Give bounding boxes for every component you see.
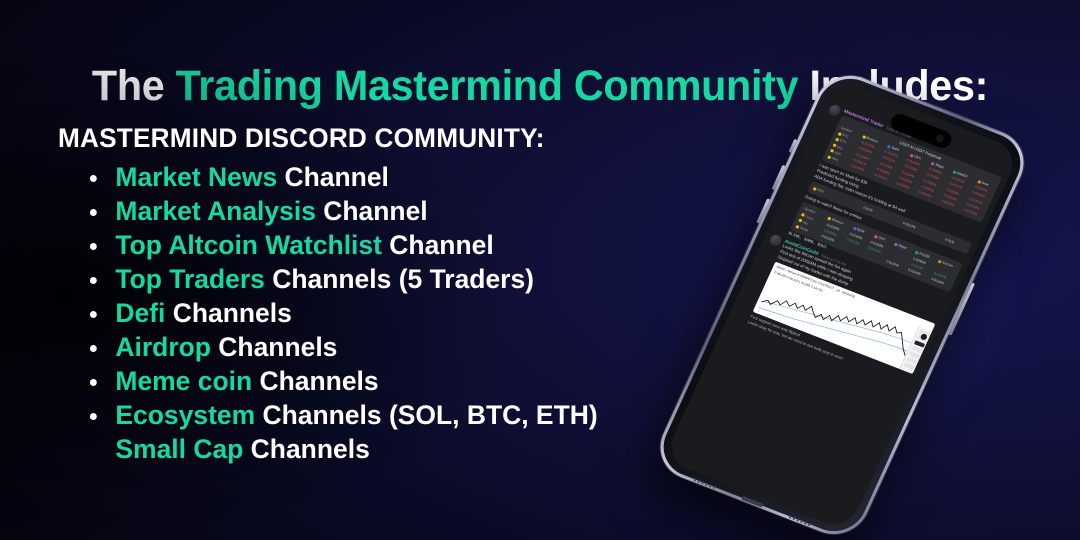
bullet-icon [90,311,97,318]
feature-highlight: Ecosystem [115,400,255,430]
bullet-icon [90,175,97,182]
bullet-icon [90,345,97,352]
coin-icon [838,132,842,136]
coin-icon [830,149,834,153]
bullet-icon [90,277,97,284]
front-camera-icon [935,134,945,143]
feature-item: Ecosystem Channels (SOL, BTC, ETH) [86,398,725,432]
subheading: MASTERMIND DISCORD COMMUNITY: [58,124,718,154]
avatar [827,103,842,117]
feature-rest: Channel [277,162,389,192]
feature-rest: Channels [243,434,369,464]
avatar [768,233,783,247]
feature-list-block: MASTERMIND DISCORD COMMUNITY: Market New… [58,124,738,466]
feature-item: Market Analysis Channel [86,194,725,228]
feature-item: Meme coin Channels [86,364,725,398]
exchange-icon [910,153,914,157]
exchange-icon [977,180,981,184]
bullet-icon [90,379,97,386]
feature-highlight: Market News [115,162,277,192]
feature-item: Top Traders Channels (5 Traders) [86,262,725,296]
phone-mockup: Mastermind TraderToday at 7:42 AM USDT-M… [697,104,1017,504]
feature-highlight: Market Analysis [115,196,316,226]
coin-icon [835,138,839,142]
feature-item: Airdrop Channels [86,330,725,364]
title-highlight: Trading Mastermind Community [176,62,799,110]
feature-item: Market News Channel [86,160,725,194]
exchange-icon [915,251,919,255]
feature-item: Defi Channels [86,296,725,330]
exchange-icon [938,260,942,264]
exchange-icon [887,145,891,149]
exchange-icon [931,162,935,166]
exchange-icon [894,243,898,247]
feature-highlight: Airdrop [115,332,211,362]
slide-canvas: The Trading Mastermind Community Include… [0,0,1080,540]
feature-item: Top Altcoin Watchlist Channel [86,228,725,262]
exchange-icon [874,235,878,239]
coin-icon [796,225,800,229]
exchange-icon [828,217,832,221]
title-part-1: The [92,62,176,110]
feature-rest: Channels [165,298,291,328]
feature-highlight: Defi [115,298,165,328]
feature-list: Market News ChannelMarket Analysis Chann… [58,160,738,466]
exchange-icon [853,227,857,231]
bullet-icon [90,413,97,420]
feature-item: Small Cap Channels [86,432,725,466]
bullet-icon [90,243,97,250]
feature-highlight: Top Altcoin Watchlist [115,230,382,260]
bullet-icon [90,209,97,216]
exchange-icon [953,170,957,174]
coin-icon [801,213,805,217]
feature-highlight: Small Cap [115,434,243,464]
feature-rest: Channel [382,230,494,260]
coin-icon [813,187,817,191]
feature-highlight: Meme coin [115,366,252,396]
feature-rest: Channels (5 Traders) [265,264,534,294]
coin-icon [827,155,831,159]
exchange-icon [862,135,866,139]
coin-icon [832,144,836,148]
feature-rest: Channels (SOL, BTC, ETH) [255,400,598,430]
feature-rest: Channels [252,366,378,396]
feature-rest: Channels [211,332,337,362]
coin-icon [798,219,802,223]
feature-highlight: Top Traders [115,264,264,294]
feature-rest: Channel [316,196,428,226]
